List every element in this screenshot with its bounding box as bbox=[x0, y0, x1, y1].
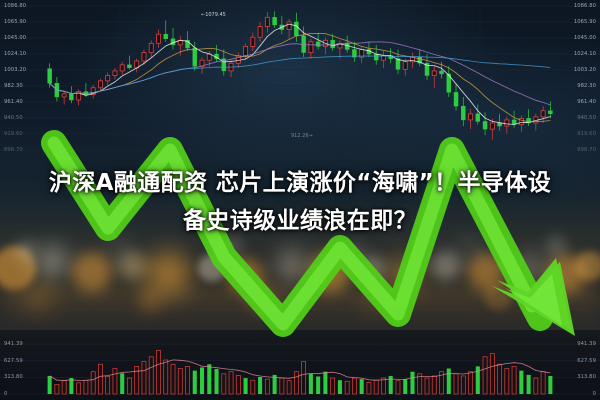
headline-line-2: 备史诗级业绩浪在即？ bbox=[0, 202, 600, 240]
screenshot-root: 1086.801086.801065.901065.901045.001045.… bbox=[0, 0, 600, 400]
headline: 沪深A融通配资 芯片上演涨价“海啸”！半导体设 备史诗级业绩浪在即？ bbox=[0, 164, 600, 240]
headline-line-1: 沪深A融通配资 芯片上演涨价“海啸”！半导体设 bbox=[0, 164, 600, 202]
